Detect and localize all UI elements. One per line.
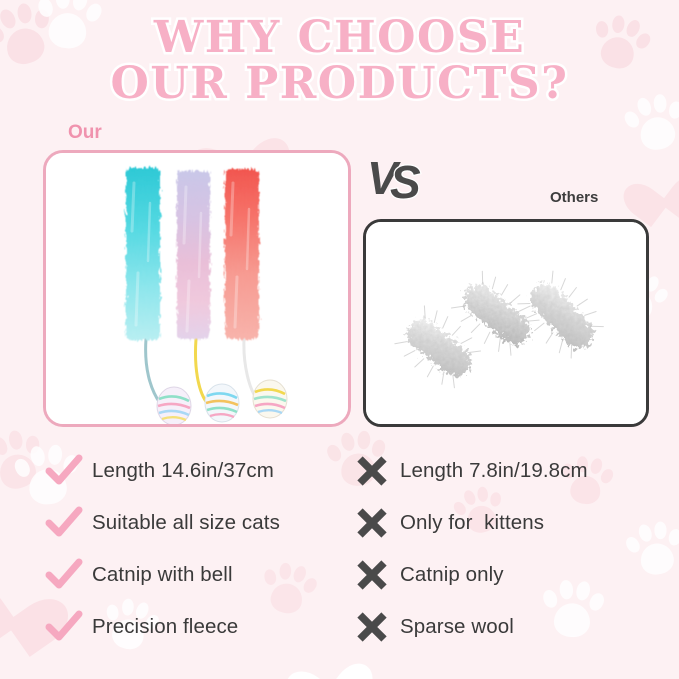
list-item: Catnip only (352, 549, 672, 601)
toy-ball (205, 384, 239, 422)
list-item-label: Sparse wool (400, 615, 514, 639)
title-line-2: OUR PRODUCTS? (0, 62, 679, 105)
list-item-label: Suitable all size cats (92, 511, 280, 535)
heart-icon (633, 157, 679, 210)
x-mark-icon (352, 558, 392, 592)
vs-badge: V S (368, 152, 432, 204)
check-mark-icon (44, 558, 84, 592)
list-item: Sparse wool (352, 601, 672, 653)
check-mark-icon (44, 610, 84, 644)
list-item-label: Precision fleece (92, 615, 238, 639)
title-line-1: WHY CHOOSE (0, 16, 679, 59)
x-mark-icon (352, 506, 392, 540)
feature-comparison-lists: Length 14.6in/37cm Suitable all size cat… (0, 445, 679, 660)
list-item: Precision fleece (44, 601, 364, 653)
vs-text: V S (368, 152, 432, 204)
list-item: Length 7.8in/19.8cm (352, 445, 672, 497)
list-item-label: Catnip only (400, 563, 504, 587)
toy-ball (157, 387, 191, 424)
list-item: Length 14.6in/37cm (44, 445, 364, 497)
our-label: Our (68, 122, 102, 144)
toy-ball (253, 380, 287, 418)
our-product-image (46, 153, 348, 424)
check-mark-icon (44, 506, 84, 540)
list-item-label: Length 7.8in/19.8cm (400, 459, 588, 483)
list-item-label: Only for kittens (400, 511, 544, 535)
svg-text:S: S (390, 156, 421, 204)
others-product-image (366, 222, 646, 424)
infographic-canvas: WHY CHOOSE OUR PRODUCTS? Our Others (0, 0, 679, 679)
list-item: Only for kittens (352, 497, 672, 549)
others-feature-list: Length 7.8in/19.8cm Only for kittens Cat… (352, 445, 672, 653)
x-mark-icon (352, 610, 392, 644)
check-mark-icon (44, 454, 84, 488)
our-product-panel (43, 150, 351, 427)
list-item-label: Catnip with bell (92, 563, 233, 587)
list-item: Catnip with bell (44, 549, 364, 601)
our-feature-list: Length 14.6in/37cm Suitable all size cat… (44, 445, 364, 653)
list-item-label: Length 14.6in/37cm (92, 459, 274, 483)
x-mark-icon (352, 454, 392, 488)
others-label: Others (550, 189, 598, 206)
page-title: WHY CHOOSE OUR PRODUCTS? (0, 16, 679, 105)
list-item: Suitable all size cats (44, 497, 364, 549)
others-product-panel (363, 219, 649, 427)
